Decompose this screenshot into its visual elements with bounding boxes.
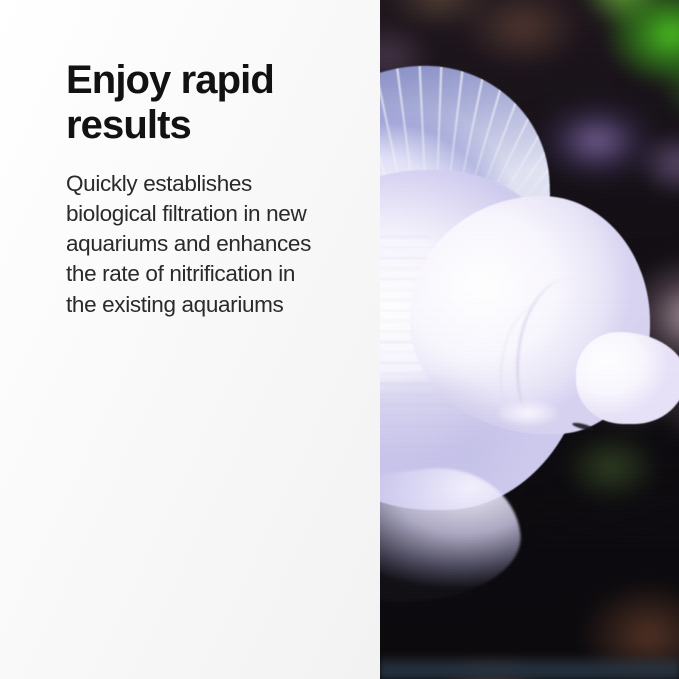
fish-edge-shadow [530,420,679,540]
product-feature-panel: Enjoy rapid results Quickly establishes … [0,0,679,679]
text-panel-content: Enjoy rapid results Quickly establishes … [0,0,380,679]
body-copy: Quickly establishes biological filtratio… [66,169,318,320]
page-title: Enjoy rapid results [66,58,336,148]
product-photo [380,0,679,679]
text-panel: Enjoy rapid results Quickly establishes … [0,0,380,679]
photo-bottom-strip [380,653,679,679]
